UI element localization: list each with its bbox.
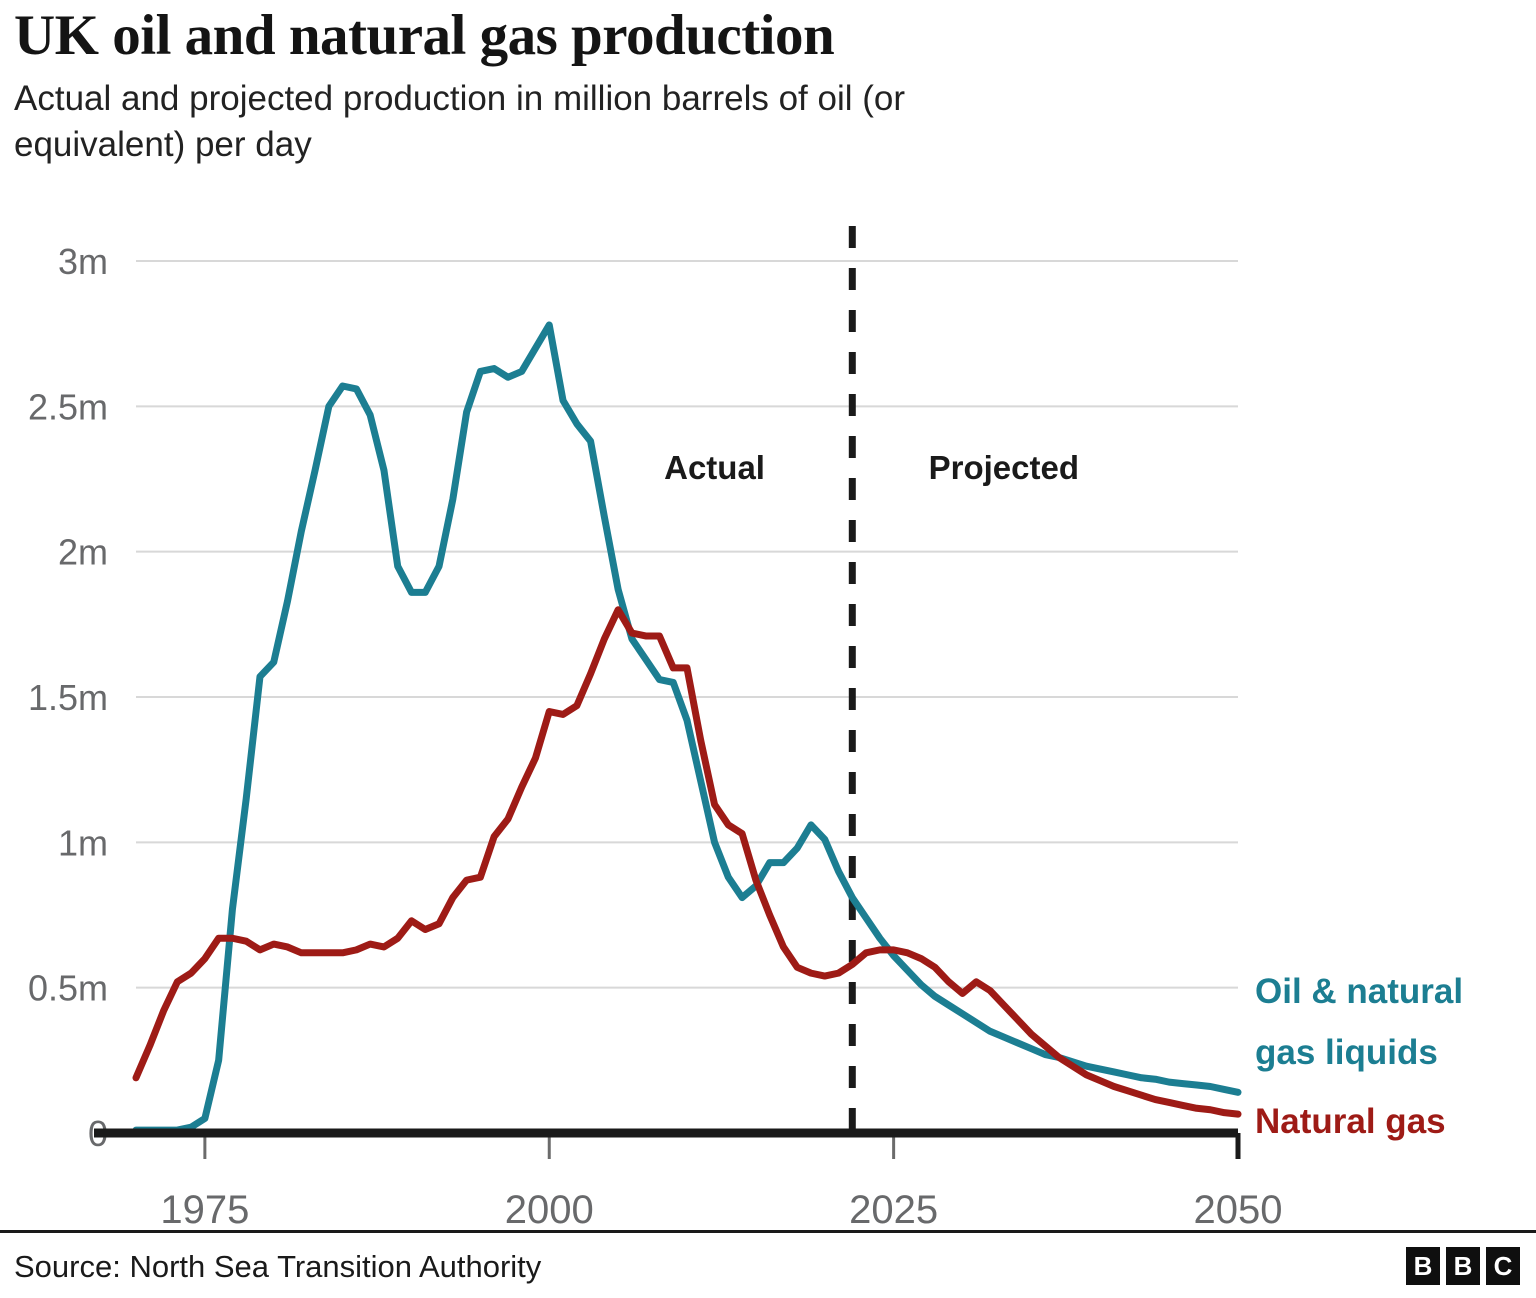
bbc-logo-letter-1: B xyxy=(1406,1247,1440,1285)
chart-page: UK oil and natural gas production Actual… xyxy=(0,0,1536,1298)
y-axis-tick-label: 2.5m xyxy=(28,386,108,427)
y-axis-tick-label: 2m xyxy=(58,532,108,573)
y-axis-tick-label: 1.5m xyxy=(28,677,108,718)
chart-footer: Source: North Sea Transition Authority B… xyxy=(0,1230,1536,1298)
chart-series-lines xyxy=(136,325,1238,1130)
x-axis-tick-label: 2000 xyxy=(505,1188,594,1232)
chart-gridlines xyxy=(136,261,1238,988)
chart-x-axis-labels: 1975200020252050 xyxy=(160,1188,1282,1232)
x-axis-tick-label: 2025 xyxy=(849,1188,938,1232)
legend-label-gas: Natural gas xyxy=(1255,1102,1446,1141)
y-axis-tick-label: 3m xyxy=(58,241,108,282)
legend-label-oil-line2: gas liquids xyxy=(1255,1033,1438,1072)
legend-label-oil-line1: Oil & natural xyxy=(1255,972,1463,1011)
source-label: Source: North Sea Transition Authority xyxy=(14,1249,541,1285)
series-line xyxy=(136,610,1238,1114)
y-axis-tick-label: 1m xyxy=(58,822,108,863)
bbc-logo-letter-3: C xyxy=(1486,1247,1520,1285)
page-title: UK oil and natural gas production xyxy=(14,4,1254,68)
chart-x-axis-ticks xyxy=(205,1133,1238,1159)
chart-x-axis-line xyxy=(94,1133,1238,1159)
chart-y-axis-labels: 00.5m1m1.5m2m2.5m3m xyxy=(28,241,108,1154)
annotation-label: Actual xyxy=(664,449,765,486)
chart-canvas: 00.5m1m1.5m2m2.5m3m 1975200020252050 Act… xyxy=(0,0,1536,1298)
chart-annotations: ActualProjected xyxy=(664,449,1079,486)
annotation-label: Projected xyxy=(929,449,1079,486)
x-axis-tick-label: 2050 xyxy=(1194,1188,1283,1232)
chart-header: UK oil and natural gas production Actual… xyxy=(14,4,1254,168)
x-axis-tick-label: 1975 xyxy=(160,1188,249,1232)
bbc-logo-letter-2: B xyxy=(1446,1247,1480,1285)
y-axis-tick-label: 0.5m xyxy=(28,968,108,1009)
chart-legend: Oil & naturalgas liquidsNatural gas xyxy=(1255,972,1463,1141)
chart-plot-area: 00.5m1m1.5m2m2.5m3m 1975200020252050 Act… xyxy=(0,0,1536,1298)
bbc-logo: B B C xyxy=(1406,1247,1520,1285)
chart-subtitle: Actual and projected production in milli… xyxy=(14,76,1044,168)
y-axis-tick-label: 0 xyxy=(88,1113,108,1154)
series-line xyxy=(136,325,1238,1130)
